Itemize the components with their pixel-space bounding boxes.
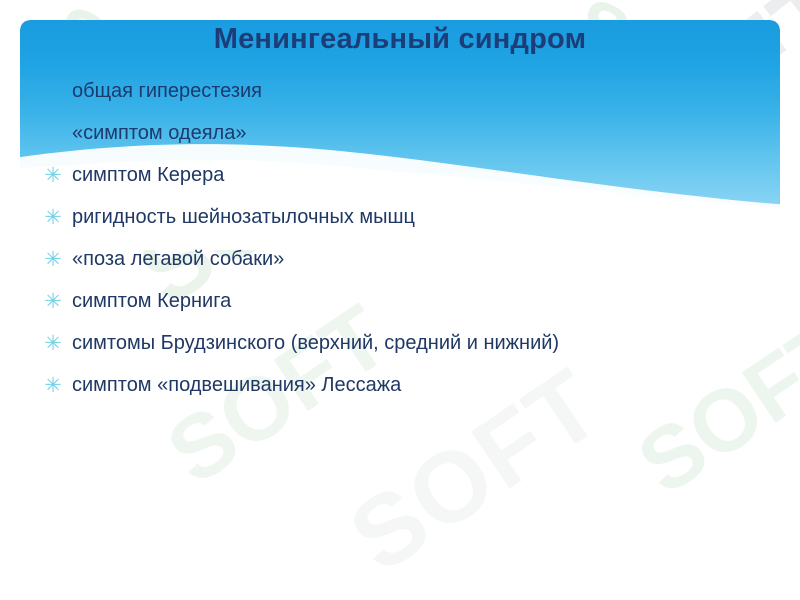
list-item-label: общая гиперестезия [72,78,262,105]
list-item-label: «симптом одеяла» [72,120,246,147]
list-item-label: «поза легавой собаки» [72,246,284,273]
bullet-icon: ✳ [44,205,62,231]
list-item: ✳ симптом Керера [40,162,720,192]
bullet-icon: ✳ [44,289,62,315]
presentation-slide: SOFT SOFT SOFT SOFT SOFT SOFT SOFT Менин… [0,0,800,600]
list-item: ✳ «симптом одеяла» [40,120,720,150]
bullet-icon: ✳ [44,331,62,357]
list-item-label: ригидность шейнозатылочных мышц [72,204,415,231]
symptom-list: ✳ общая гиперестезия ✳ «симптом одеяла» … [40,78,720,414]
list-item-label: симптом Керера [72,162,224,189]
list-item: ✳ «поза легавой собаки» [40,246,720,276]
list-item: ✳ ригидность шейнозатылочных мышц [40,204,720,234]
bullet-icon: ✳ [44,247,62,273]
list-item-label: симптом «подвешивания» Лессажа [72,372,401,399]
list-item: ✳ общая гиперестезия [40,78,720,108]
list-item: ✳ симптом Кернига [40,288,720,318]
bullet-icon: ✳ [44,373,62,399]
list-item-label: симтомы Брудзинского (верхний, средний и… [72,330,559,357]
list-item: ✳ симптом «подвешивания» Лессажа [40,372,720,402]
bullet-icon: ✳ [44,163,62,189]
page-title: Менингеальный синдром [20,22,780,56]
list-item: ✳ симтомы Брудзинского (верхний, средний… [40,330,720,360]
list-item-label: симптом Кернига [72,288,231,315]
